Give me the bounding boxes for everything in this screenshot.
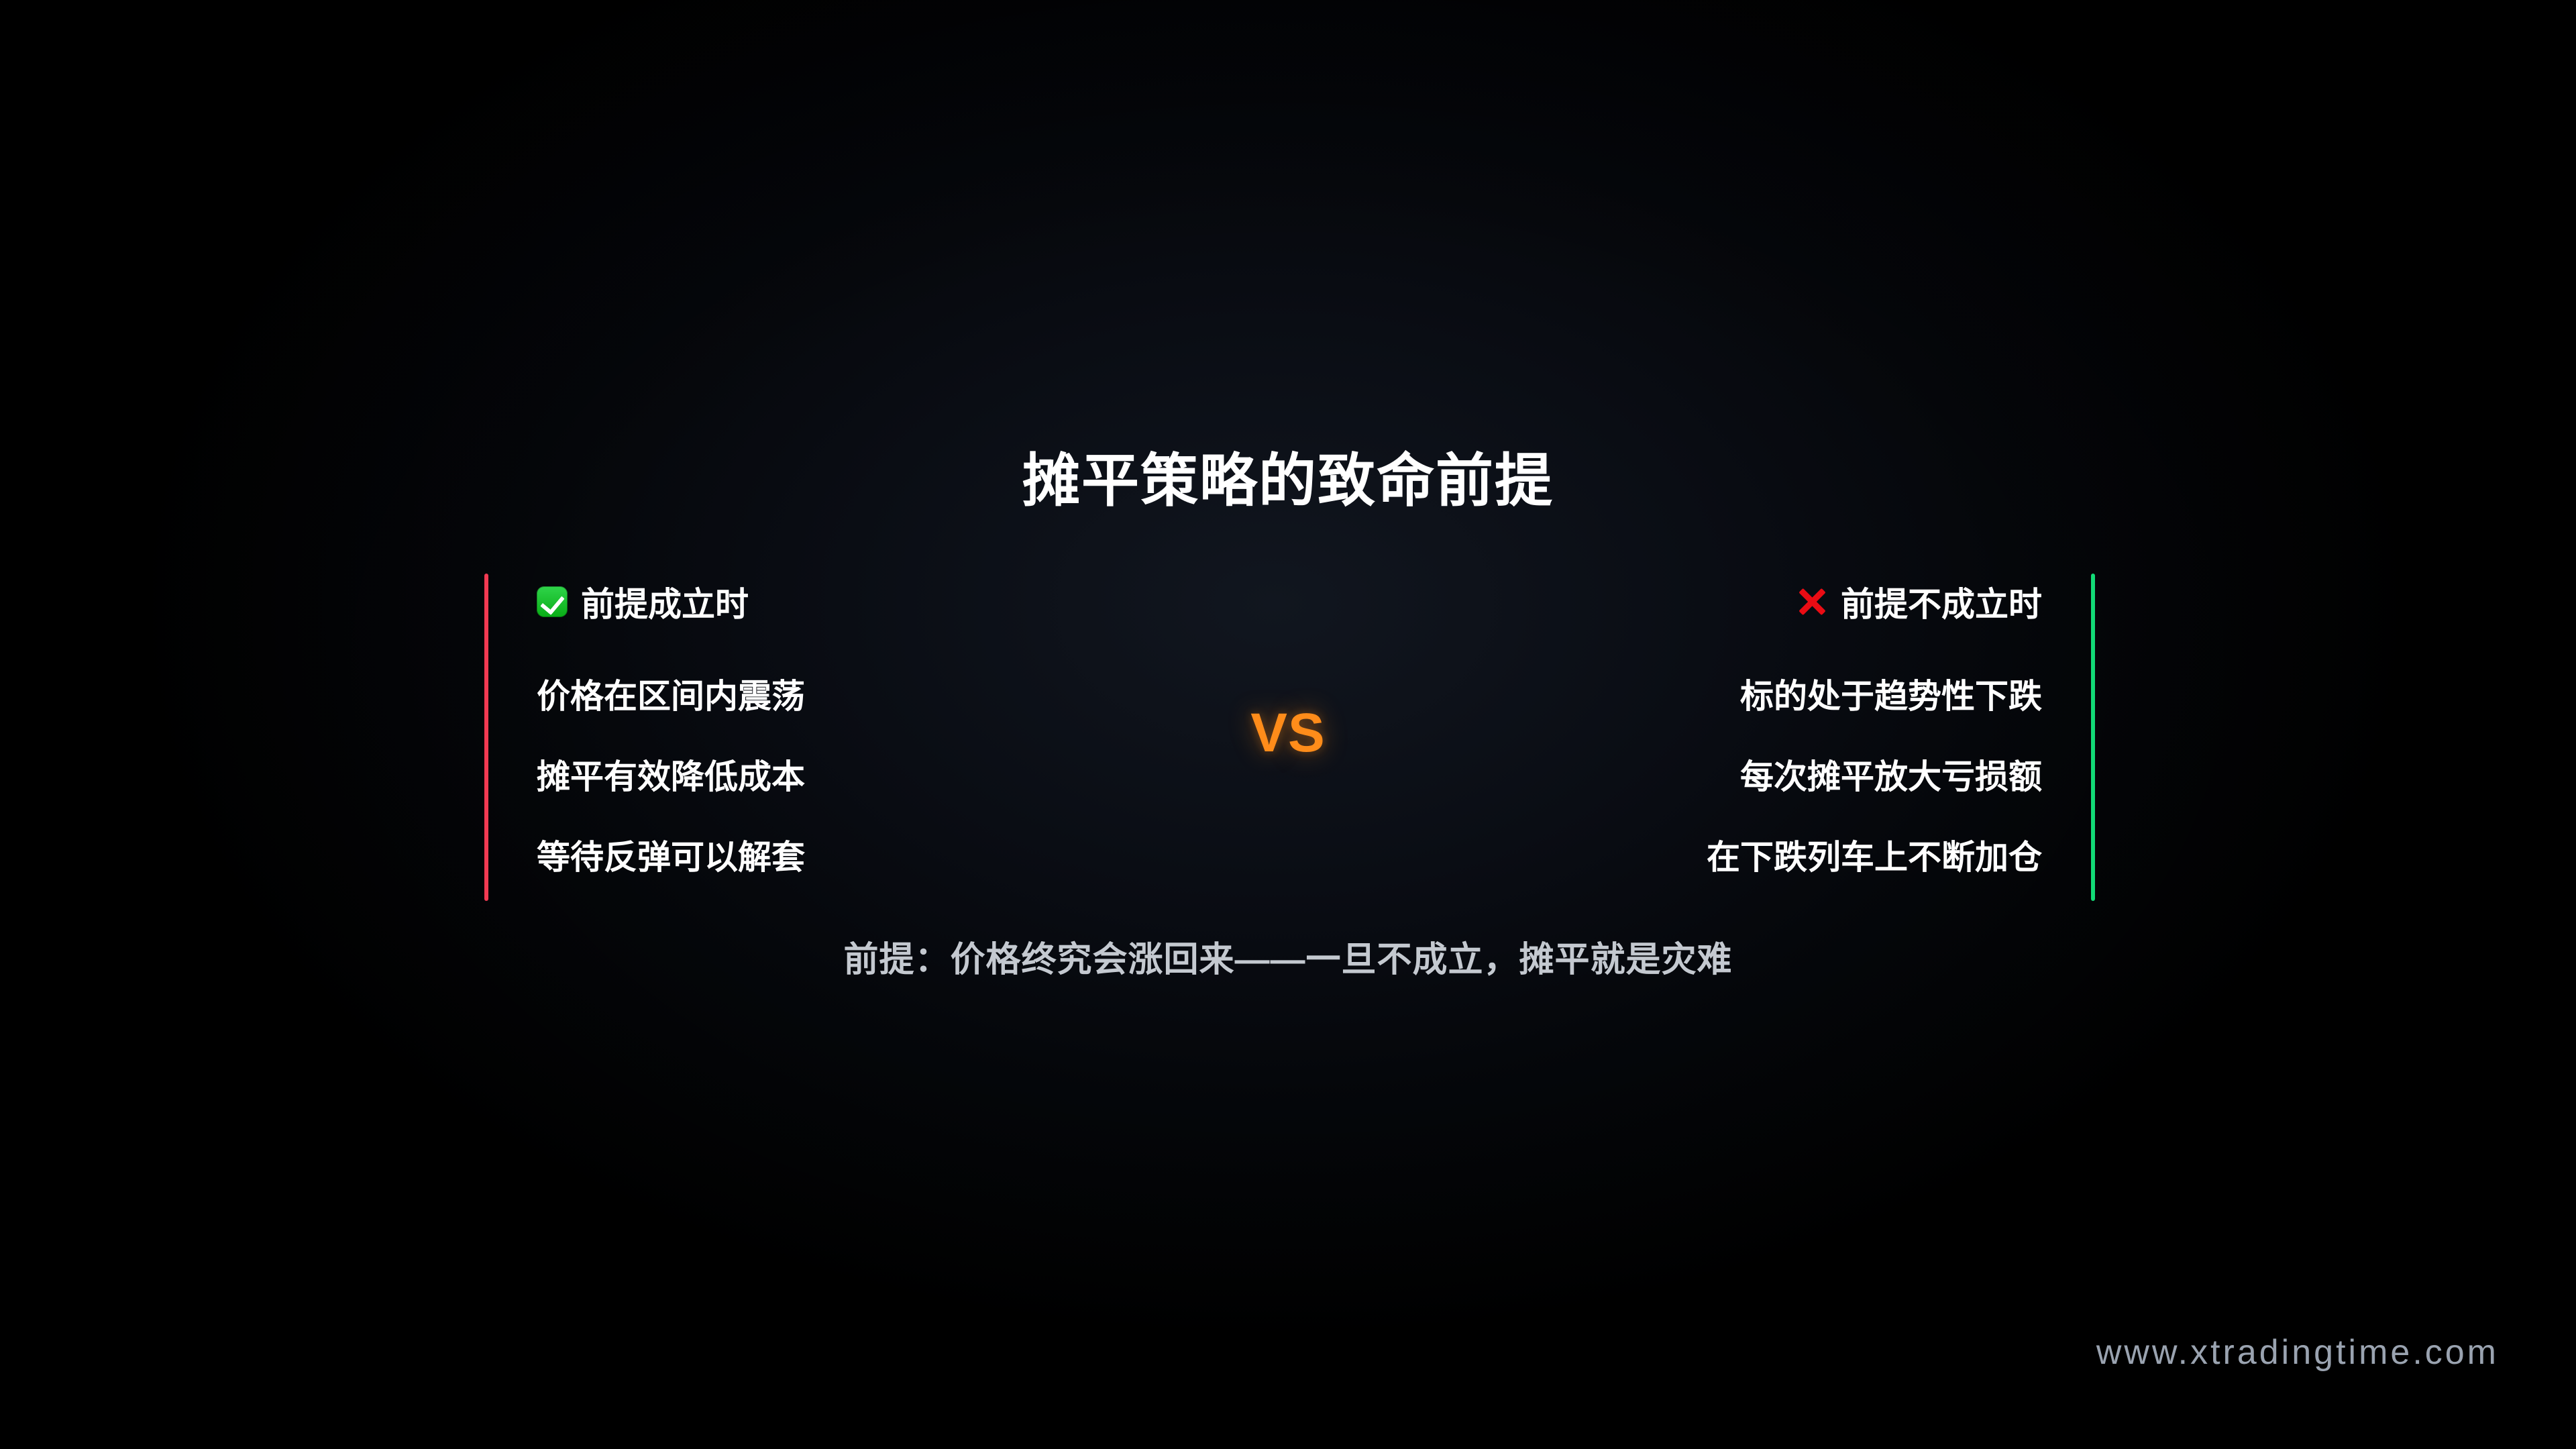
watermark-url: www.xtradingtime.com (2096, 1332, 2499, 1373)
left-column-heading: 前提成立时 (537, 574, 1248, 630)
cross-mark-icon (1796, 586, 1827, 617)
slide-canvas: 摊平策略的致命前提 前提成立时 价格在区间内震荡 摊平有效降低成本 等待反弹可以… (0, 0, 2576, 1449)
white-heavy-check-mark-icon (537, 586, 568, 617)
footnote-text: 前提：价格终究会涨回来——一旦不成立，摊平就是灾难 (0, 931, 2576, 981)
right-column-heading: 前提不成立时 (1331, 574, 2042, 630)
left-heading-label: 前提成立时 (581, 578, 749, 626)
right-heading-label: 前提不成立时 (1841, 578, 2042, 626)
left-row-3: 等待反弹可以解套 (537, 834, 1248, 881)
versus-label: VS (0, 702, 2576, 765)
page-title: 摊平策略的致命前提 (0, 451, 2576, 511)
right-row-3: 在下跌列车上不断加仓 (1331, 834, 2042, 881)
